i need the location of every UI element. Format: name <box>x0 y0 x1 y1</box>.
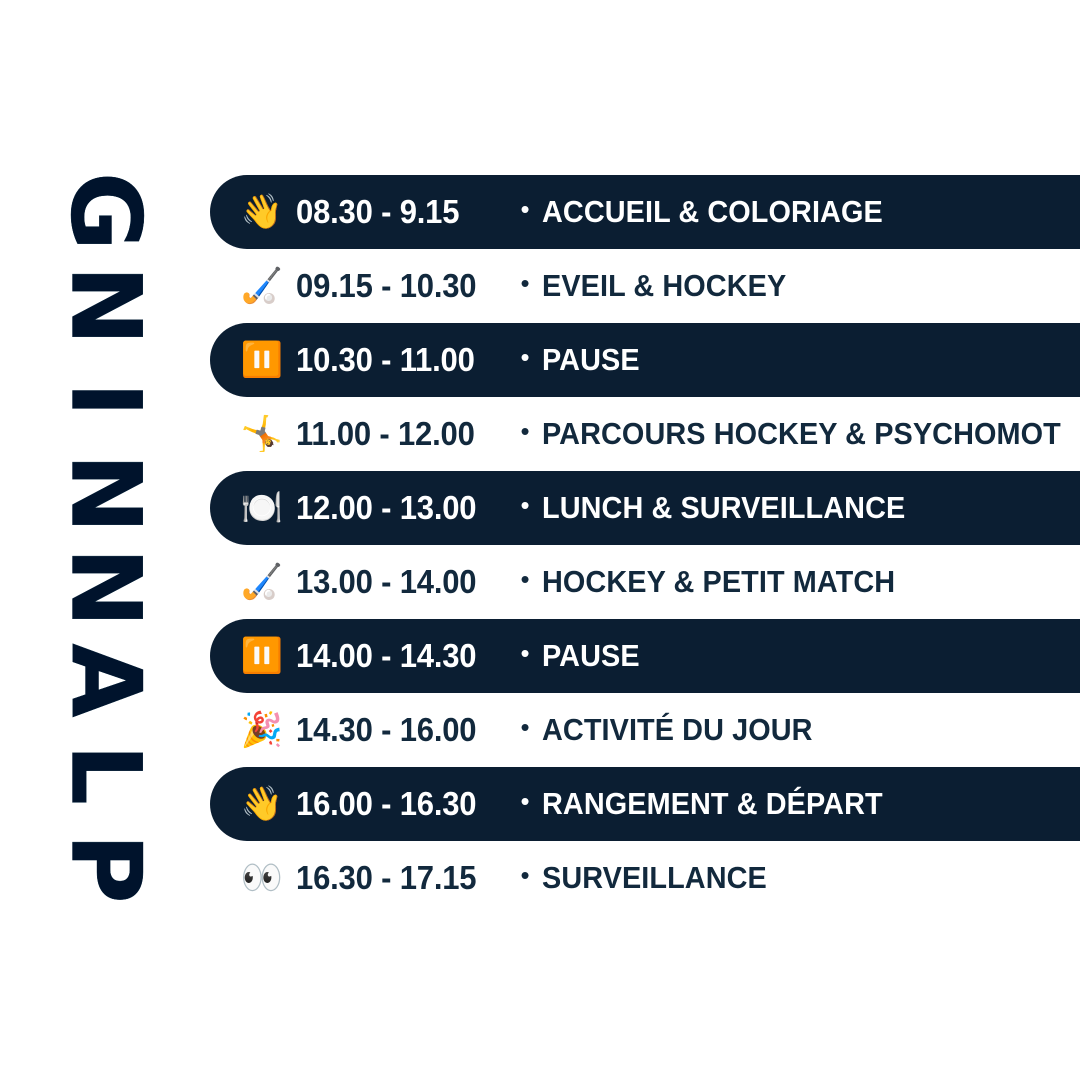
field-hockey-icon: 🏑 <box>228 565 296 599</box>
schedule-row[interactable]: 🎉14.30 - 16.00•ACTIVITÉ DU JOUR <box>210 693 1080 767</box>
page-title-letter-7: G <box>68 163 143 259</box>
schedule-row-separator-dot: • <box>508 788 542 814</box>
schedule-row-separator-dot: • <box>508 492 542 518</box>
schedule-row-time: 09.15 - 10.30 <box>296 267 495 305</box>
page-title-letter-2: A <box>68 633 143 729</box>
schedule-row-label: ACCUEIL & COLORIAGE <box>542 194 883 230</box>
schedule-row[interactable]: 👀16.30 - 17.15•SURVEILLANCE <box>210 841 1080 915</box>
schedule-row[interactable]: 🍽️12.00 - 13.00•LUNCH & SURVEILLANCE <box>210 471 1080 545</box>
page-title-letter-5: I <box>68 351 143 447</box>
page-title-letter-4: N <box>68 445 143 541</box>
page-title-letter-1: L <box>68 727 143 823</box>
schedule-row[interactable]: ⏸️14.00 - 14.30•PAUSE <box>210 619 1080 693</box>
schedule-row[interactable]: ⏸️10.30 - 11.00•PAUSE <box>210 323 1080 397</box>
pause-button-icon: ⏸️ <box>228 343 296 377</box>
cartwheel-icon: 🤸 <box>228 417 296 451</box>
waving-hand-icon: 👋 <box>228 195 296 229</box>
schedule-row-time: 08.30 - 9.15 <box>296 193 495 231</box>
waving-hand-icon: 👋 <box>228 787 296 821</box>
party-popper-icon: 🎉 <box>228 713 296 747</box>
schedule-row-label: PARCOURS HOCKEY & PSYCHOMOT <box>542 416 1061 452</box>
schedule-row-time: 12.00 - 13.00 <box>296 489 495 527</box>
schedule-row-separator-dot: • <box>508 418 542 444</box>
schedule-row-time: 11.00 - 12.00 <box>296 415 495 453</box>
schedule-row-label: SURVEILLANCE <box>542 860 767 896</box>
schedule-row[interactable]: 👋08.30 - 9.15•ACCUEIL & COLORIAGE <box>210 175 1080 249</box>
schedule-row-separator-dot: • <box>508 640 542 666</box>
schedule-row-time: 14.30 - 16.00 <box>296 711 495 749</box>
schedule-row-separator-dot: • <box>508 344 542 370</box>
schedule-row-separator-dot: • <box>508 862 542 888</box>
schedule-row-label: PAUSE <box>542 638 640 674</box>
schedule-row[interactable]: 🏑13.00 - 14.00•HOCKEY & PETIT MATCH <box>210 545 1080 619</box>
page-title-letter-stack: PLANNING <box>57 174 153 906</box>
schedule-row[interactable]: 🤸11.00 - 12.00•PARCOURS HOCKEY & PSYCHOM… <box>210 397 1080 471</box>
schedule-row[interactable]: 🏑09.15 - 10.30•EVEIL & HOCKEY <box>210 249 1080 323</box>
schedule-row-separator-dot: • <box>508 566 542 592</box>
schedule-row-time: 16.00 - 16.30 <box>296 785 495 823</box>
schedule-row-label: LUNCH & SURVEILLANCE <box>542 490 905 526</box>
schedule-row-label: RANGEMENT & DÉPART <box>542 786 883 822</box>
page-title: PLANNING <box>0 0 210 1080</box>
page-title-letter-3: N <box>68 539 143 635</box>
schedule-row-time: 16.30 - 17.15 <box>296 859 495 897</box>
schedule-row-separator-dot: • <box>508 714 542 740</box>
schedule-row-time: 14.00 - 14.30 <box>296 637 495 675</box>
schedule-row-time: 10.30 - 11.00 <box>296 341 495 379</box>
page-title-letter-0: P <box>68 821 143 917</box>
schedule-row-label: ACTIVITÉ DU JOUR <box>542 712 813 748</box>
field-hockey-icon: 🏑 <box>228 269 296 303</box>
schedule-row-separator-dot: • <box>508 196 542 222</box>
schedule-row-label: PAUSE <box>542 342 640 378</box>
schedule-row-separator-dot: • <box>508 270 542 296</box>
page-title-letter-6: N <box>68 257 143 353</box>
schedule-row-label: EVEIL & HOCKEY <box>542 268 786 304</box>
eyes-icon: 👀 <box>228 861 296 895</box>
schedule-list: 👋08.30 - 9.15•ACCUEIL & COLORIAGE🏑09.15 … <box>210 175 1080 915</box>
schedule-row[interactable]: 👋16.00 - 16.30•RANGEMENT & DÉPART <box>210 767 1080 841</box>
schedule-row-time: 13.00 - 14.00 <box>296 563 495 601</box>
plate-cutlery-icon: 🍽️ <box>228 491 296 525</box>
pause-button-icon: ⏸️ <box>228 639 296 673</box>
schedule-row-label: HOCKEY & PETIT MATCH <box>542 564 895 600</box>
